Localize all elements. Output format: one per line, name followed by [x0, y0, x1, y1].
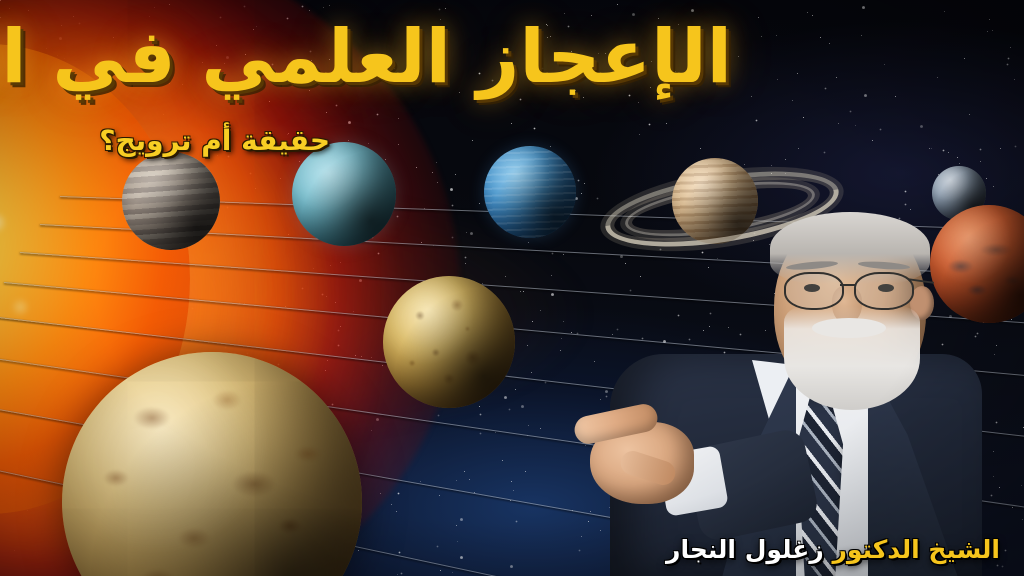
- planet-neptune: [484, 146, 576, 238]
- glasses-lens-left: [784, 272, 844, 310]
- subtitle: حقيقة أم ترويج؟: [99, 126, 330, 157]
- speaker-portrait: [592, 212, 1000, 576]
- speaker-credit: الشيخ الدكتور زغلول النجار: [666, 535, 1000, 564]
- planet-uranus: [292, 142, 396, 246]
- thumbnail-canvas: الإعجاز العلمي في القرآن حقيقة أم ترويج؟…: [0, 0, 1024, 576]
- glasses-bridge: [840, 284, 856, 286]
- credit-honorific: الشيخ الدكتور: [832, 535, 1000, 564]
- mustache: [812, 318, 886, 338]
- pointing-hand: [574, 394, 706, 512]
- glasses-lens-right: [854, 272, 914, 310]
- main-title: الإعجاز العلمي في القرآن: [0, 18, 732, 96]
- credit-name: زغلول النجار: [666, 535, 824, 564]
- eyeglasses: [782, 272, 930, 308]
- planet-mercury: [383, 276, 515, 408]
- planet-jupiter: [122, 152, 220, 250]
